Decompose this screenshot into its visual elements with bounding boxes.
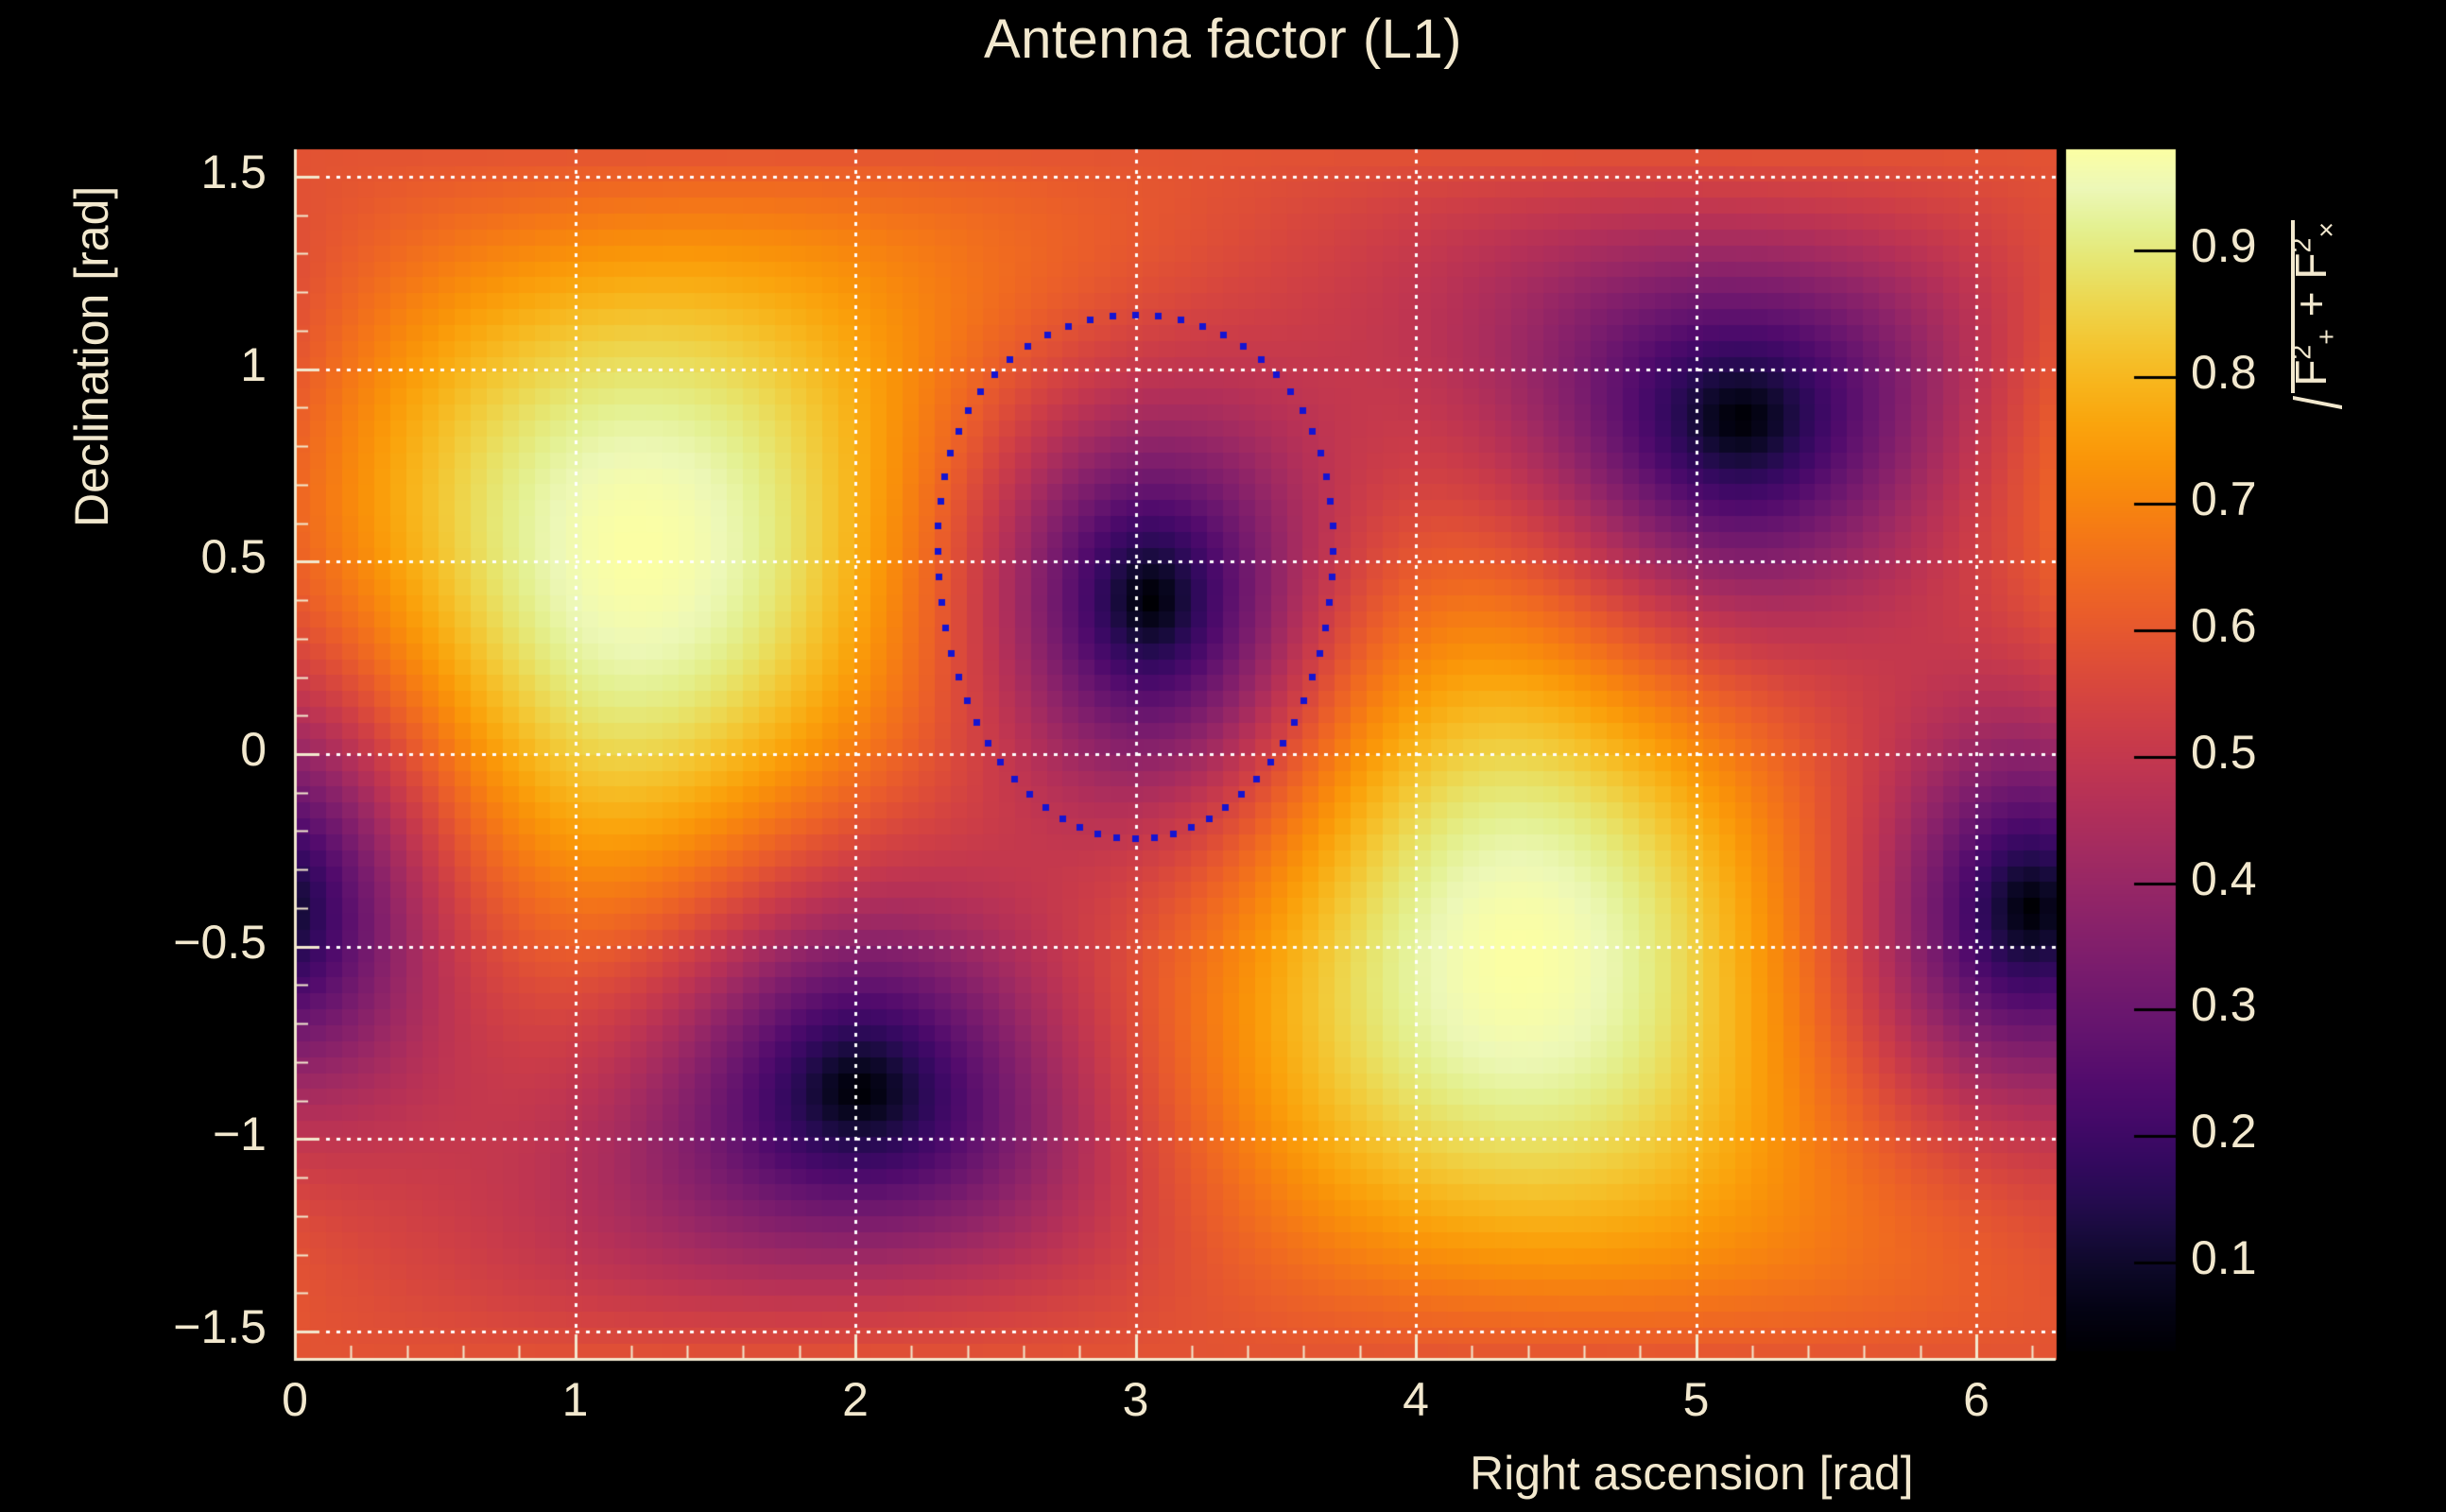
- y-tick-label: −1: [59, 1107, 267, 1161]
- y-tick-label: −1.5: [59, 1299, 267, 1354]
- plus-operator: +: [2286, 280, 2335, 329]
- colorbar-tick-label: 0.6: [2191, 598, 2361, 653]
- colorbar-tick-label: 0.1: [2191, 1230, 2361, 1285]
- x-tick-label: 6: [1920, 1372, 2033, 1427]
- x-axis-title: Right ascension [rad]: [1470, 1446, 1914, 1501]
- colorbar-tick-label: 0.7: [2191, 472, 2361, 526]
- y-tick-label: 1.5: [59, 145, 267, 199]
- x-tick-label: 1: [519, 1372, 632, 1427]
- colorbar-tick-label: 0.8: [2191, 345, 2361, 400]
- y-tick-label: −0.5: [59, 915, 267, 970]
- colorbar-tick-label: 0.2: [2191, 1104, 2361, 1159]
- y-tick-label: 1: [59, 337, 267, 392]
- page-title: Antenna factor (L1): [0, 8, 2446, 71]
- y-tick-label: 0.5: [59, 529, 267, 584]
- x-tick-label: 3: [1079, 1372, 1193, 1427]
- heatmap-canvas: [0, 0, 2446, 1512]
- colorbar-tick-label: 0.4: [2191, 851, 2361, 906]
- x-tick-label: 5: [1640, 1372, 1753, 1427]
- x-tick-label: 2: [799, 1372, 912, 1427]
- x-tick-label: 0: [238, 1372, 352, 1427]
- colorbar-tick-label: 0.5: [2191, 725, 2361, 780]
- colorbar-tick-label: 0.9: [2191, 218, 2361, 273]
- y-tick-label: 0: [59, 722, 267, 777]
- x-tick-label: 4: [1359, 1372, 1473, 1427]
- colorbar-tick-label: 0.3: [2191, 977, 2361, 1032]
- figure-canvas-root: Antenna factor (L1) Right ascension [rad…: [0, 0, 2446, 1512]
